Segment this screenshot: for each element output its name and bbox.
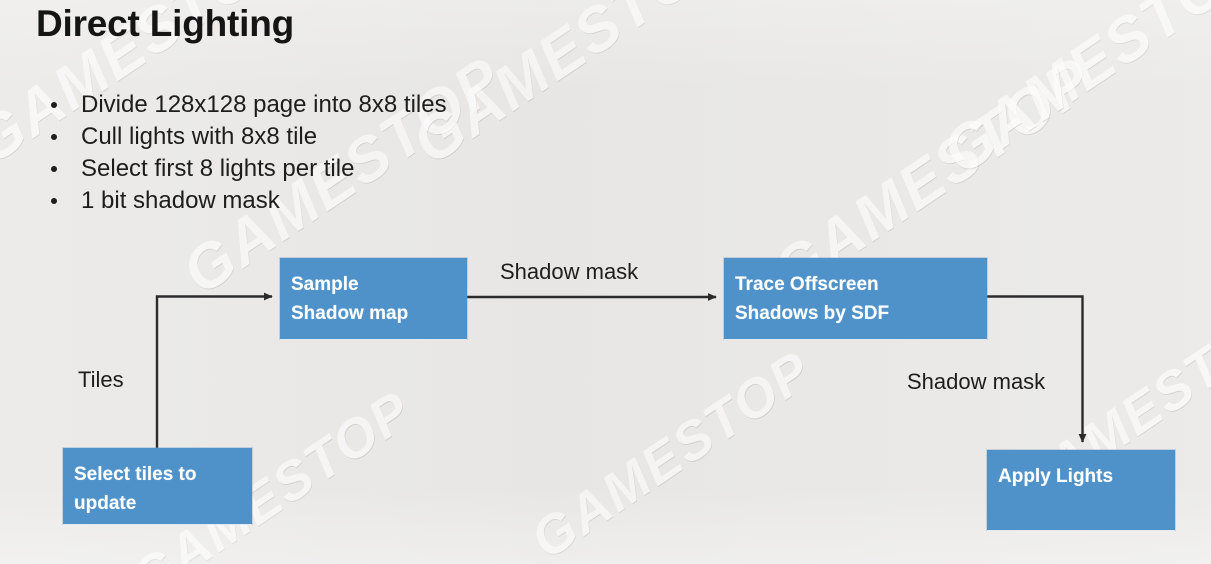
flow-box-line1: Trace Offscreen [735,274,879,295]
flow-box-sample-shadow-map[interactable]: Sample Shadow map [280,258,467,339]
arrow-select-tiles-to-sample [157,297,272,449]
flow-label-tiles: Tiles [78,367,124,393]
slide-canvas: GAMESTOPGAMESTOPGAMESTOPGAMESTOPGAMESTOP… [0,0,1211,564]
flow-box-select-tiles-to-update[interactable]: Select tiles to update [63,448,252,524]
flow-box-line2: update [74,489,252,518]
flow-box-line1: Select tiles to [74,464,197,485]
flow-diagram: Sample Shadow map Trace Offscreen Shadow… [0,0,1211,564]
flow-label-shadow-mask-top: Shadow mask [500,259,638,285]
flow-label-shadow-mask-right: Shadow mask [907,369,1045,395]
flow-box-line2: Shadow map [291,299,467,328]
flow-box-line2: Shadows by SDF [735,299,987,328]
flow-box-line1: Sample [291,274,359,295]
flow-box-line1: Apply Lights [998,466,1113,487]
flow-box-apply-lights[interactable]: Apply Lights [987,450,1175,530]
flow-box-trace-offscreen-shadows-by-sdf[interactable]: Trace Offscreen Shadows by SDF [724,258,987,339]
